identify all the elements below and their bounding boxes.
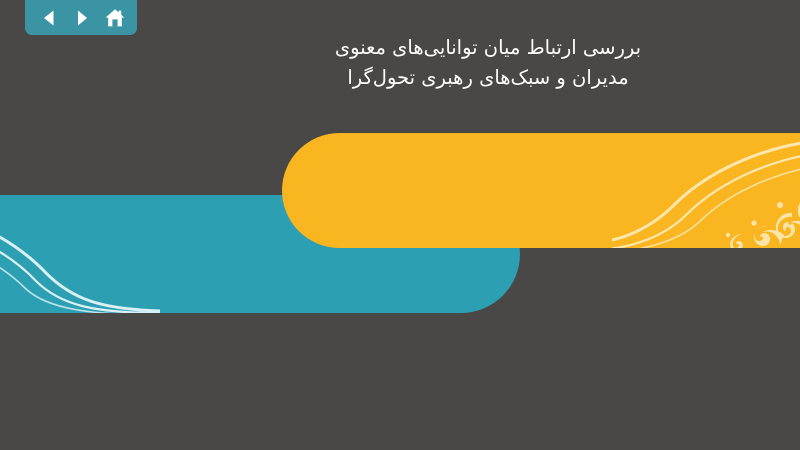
home-button[interactable] (102, 5, 128, 31)
forward-button[interactable] (69, 5, 95, 31)
home-icon (104, 7, 126, 29)
arabesque-corner-ornament-orange (612, 133, 800, 248)
back-button[interactable] (36, 5, 62, 31)
slide-title-line-2: مدیران و سبک‌های رهبری تحول‌گرا (298, 63, 678, 93)
triangle-right-icon (72, 8, 92, 28)
arabesque-corner-ornament-teal (0, 195, 160, 313)
slide-title-line-1: بررسی ارتباط میان توانایی‌های معنوی (298, 33, 678, 63)
navigation-bar (25, 0, 137, 35)
orange-banner-shape (282, 133, 800, 248)
slide-canvas: بررسی ارتباط میان توانایی‌های معنوی مدیر… (0, 0, 800, 450)
slide-title: بررسی ارتباط میان توانایی‌های معنوی مدیر… (298, 33, 678, 93)
triangle-left-icon (39, 8, 59, 28)
